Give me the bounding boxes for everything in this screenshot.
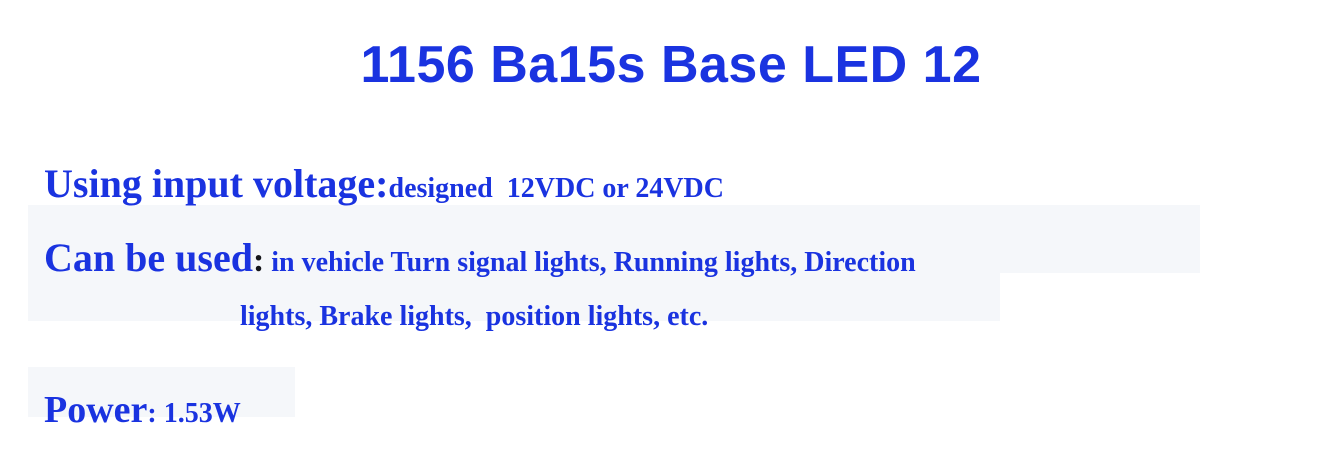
- power-label: Power: [44, 389, 147, 431]
- usage-value-line1: in vehicle Turn signal lights, Running l…: [264, 247, 915, 278]
- usage-label: Can be used: [44, 235, 253, 280]
- usage-value-line2: lights, Brake lights, position lights, e…: [240, 301, 708, 332]
- power-separator: :: [147, 398, 156, 429]
- usage-separator: :: [253, 242, 264, 279]
- led-spec-sheet: 1156 Ba15s Base LED 12 Using input volta…: [0, 0, 1342, 430]
- spec-row-power: Power: 1.53W: [28, 370, 241, 454]
- input-voltage-label: Using input voltage:: [44, 161, 389, 206]
- page-title: 1156 Ba15s Base LED 12: [361, 36, 982, 94]
- spec-row-usage-line2: lights, Brake lights, position lights, e…: [224, 279, 708, 355]
- title-row: 1156 Ba15s Base LED 12: [0, 36, 1342, 94]
- input-voltage-value: designed 12VDC or 24VDC: [389, 173, 725, 204]
- power-value: 1.53W: [157, 398, 241, 429]
